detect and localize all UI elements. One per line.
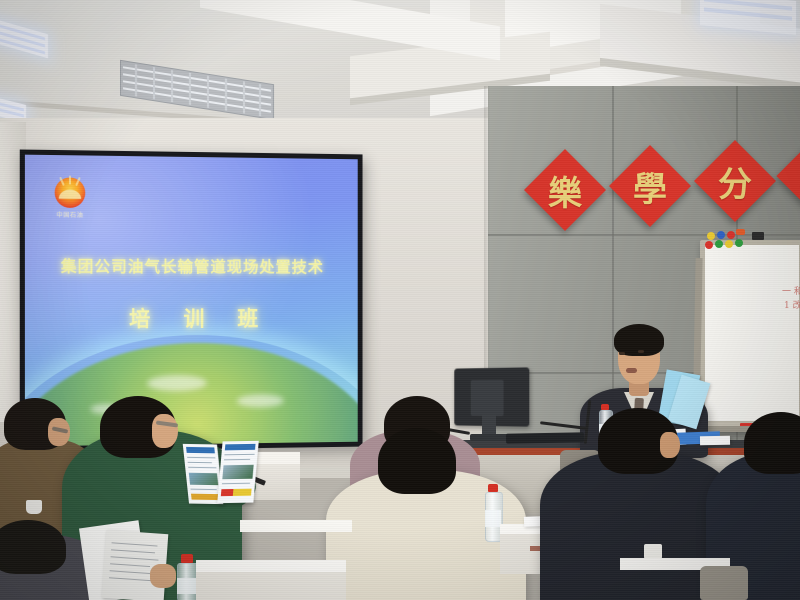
wall-plaque-3: 分 [694, 140, 776, 222]
whiteboard-surface[interactable] [705, 245, 799, 421]
projection-screen: 中国石油 集团公司油气长输管道现场处置技术 培 训 班 [25, 155, 358, 447]
presenter-eye-left [619, 352, 625, 355]
attendee-cream-jacket-hair [378, 428, 456, 494]
bottle-cap [488, 484, 498, 492]
wall-plaque-1: 樂 [524, 149, 606, 231]
chair[interactable] [700, 566, 748, 600]
desk-papers[interactable] [700, 436, 730, 446]
presenter-mouth [626, 368, 637, 373]
attendee-green-sweater-face [152, 414, 178, 448]
brochure-right-page[interactable] [217, 441, 259, 503]
mug[interactable] [26, 500, 42, 514]
wall-plaque-2: 學 [609, 145, 691, 227]
bottle-label [177, 578, 197, 594]
wall-plaque-glyph: 樂 [536, 161, 594, 219]
attendee-dark-suit-center-ear [660, 432, 680, 458]
bottle-cap [181, 554, 193, 563]
keyboard[interactable] [506, 432, 584, 443]
attendee-foreground-left-hair [0, 520, 66, 574]
wall-plaque-glyph: 學 [621, 157, 679, 215]
slide-subtitle: 培 训 班 [25, 303, 358, 334]
monitor-back-housing [471, 380, 504, 416]
wall-plaque-glyph: 享 [788, 148, 800, 204]
meeting-room-photo: 中国石油 集团公司油气长输管道现场处置技术 培 训 班 樂 學 分 享 一 和 … [0, 0, 800, 600]
monitor-stand-neck [482, 414, 496, 436]
petrochina-logo: 中国石油 [50, 175, 91, 220]
monitor-stand-base [470, 434, 510, 441]
whiteboard-magnet[interactable] [717, 231, 725, 239]
presenter-eye-right [638, 350, 644, 353]
whiteboard-magnet[interactable] [707, 232, 715, 240]
front-left-desk-front [196, 572, 346, 600]
slide-title: 集团公司油气长输管道现场处置技术 [25, 254, 358, 277]
whiteboard-magnet[interactable] [705, 241, 713, 249]
projection-screen-frame: 中国石油 集团公司油气长输管道现场处置技术 培 训 班 [20, 149, 363, 451]
whiteboard-ink-line-2: 1 改 [784, 298, 800, 311]
bottle-label [485, 510, 501, 527]
water-bottle[interactable] [176, 554, 198, 600]
whiteboard-magnet[interactable] [727, 231, 735, 239]
whiteboard-magnet[interactable] [715, 240, 723, 248]
petrochina-logo-caption: 中国石油 [50, 210, 91, 219]
mid-left-desk-top [240, 520, 352, 532]
attendee-foreground-left-hand [150, 564, 176, 588]
whiteboard-ink-line-1: 一 和 [782, 284, 800, 297]
whiteboard-magnet[interactable] [725, 240, 733, 248]
whiteboard-magnet[interactable] [735, 239, 743, 247]
whiteboard-clip[interactable] [752, 232, 764, 240]
whiteboard-magnet[interactable] [736, 229, 745, 235]
wall-plaque-glyph: 分 [706, 152, 764, 210]
whiteboard[interactable]: 一 和 1 改 [700, 240, 800, 432]
